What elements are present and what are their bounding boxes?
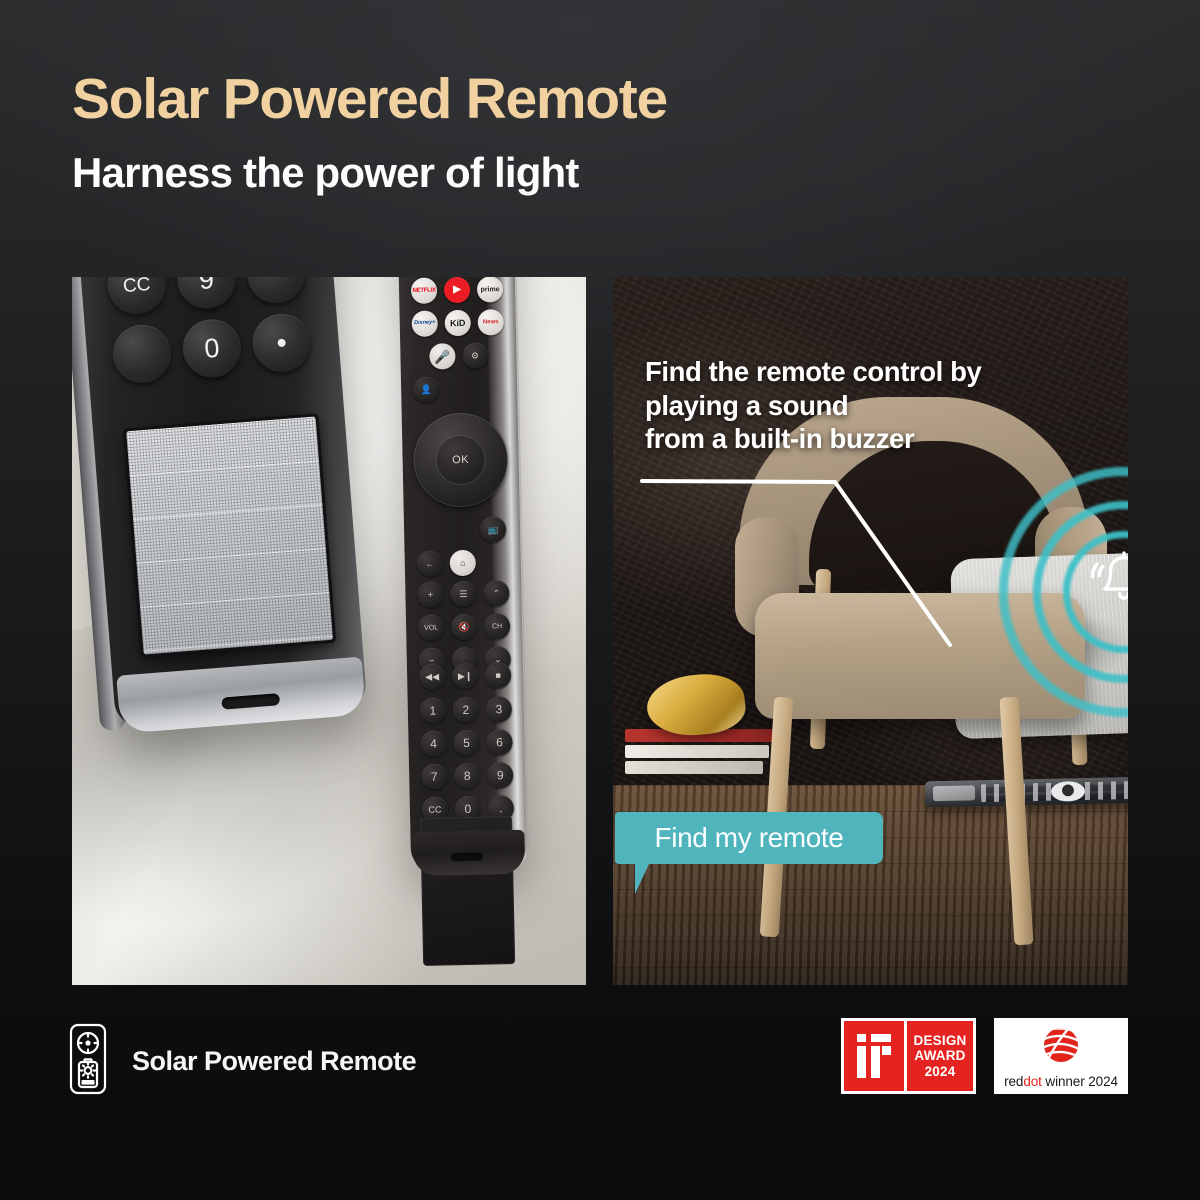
scene-photo-panel: Find the remote control by playing a sou… [613, 277, 1128, 985]
rewind-button-icon: ◀◀ [419, 663, 446, 690]
playback-row: ◀◀ ▶❙ ■ [417, 662, 514, 697]
key-blank-a [245, 277, 307, 305]
if-logo-icon [855, 1034, 893, 1078]
solar-remote-icon [68, 1022, 108, 1101]
back-button-icon: ← [417, 550, 444, 577]
find-my-remote-bubble[interactable]: Find my remote [615, 812, 883, 864]
slim-key-4: 4 [420, 730, 447, 757]
volume-label: VOL [418, 614, 445, 641]
reddot-caption: reddot winner 2024 [1004, 1074, 1118, 1089]
settings-gear-icon: ⚙ [462, 342, 489, 369]
mute-button-icon: 🔇 [451, 614, 478, 641]
slim-key-1: 1 [420, 697, 447, 724]
prime-video-app-button: prime [477, 277, 504, 303]
navigation-row: 📺 ← ⌂ [414, 516, 511, 584]
slim-usb-c-port-icon [451, 853, 483, 862]
slim-key-3: 3 [486, 696, 513, 723]
slim-remote-device: NETFLIX ▶ prime Disney+ KiD News 🎤 ⚙ 👤 O… [397, 277, 527, 872]
app-shortcut-row-1: NETFLIX ▶ prime Disney+ KiD News 🎤 ⚙ 👤 [409, 277, 508, 410]
if-award-line-2: AWARD [914, 1048, 965, 1063]
if-award-line-3: 2024 [925, 1064, 956, 1079]
sound-wave-rings [999, 467, 1128, 717]
slim-key-9: 9 [487, 762, 514, 789]
reddot-winner-badge: reddot winner 2024 [994, 1018, 1128, 1094]
solar-cell-surface [126, 416, 333, 654]
youtube-app-button: ▶ [444, 277, 471, 303]
key-blank-b [111, 323, 173, 385]
usb-c-port-icon [222, 693, 281, 710]
header-block: Solar Powered Remote Harness the power o… [72, 70, 1132, 196]
profile-icon: 👤 [413, 376, 440, 403]
channel-label: CH [484, 613, 511, 640]
slim-key-8: 8 [454, 763, 481, 790]
key-dot [250, 312, 312, 374]
key-0: 0 [181, 317, 243, 379]
dot-glyph [277, 339, 286, 348]
armchair [721, 397, 1111, 957]
key-cc: CC [105, 277, 167, 316]
large-remote-device: 7 8 6 CC 9 0 [72, 277, 367, 728]
if-award-line-1: DESIGN [914, 1033, 967, 1048]
play-pause-button-icon: ▶❙ [452, 663, 479, 690]
slim-key-7: 7 [421, 763, 448, 790]
page-title: Solar Powered Remote [72, 70, 1132, 130]
ok-button: OK [435, 434, 486, 485]
slim-remote-keypad: 1 2 3 4 5 6 7 8 9 CC 0 . [418, 696, 517, 830]
scene-caption: Find the remote control by playing a sou… [645, 355, 1085, 456]
page-subtitle: Harness the power of light [72, 150, 1132, 196]
scene-caption-line-3: from a built-in buzzer [645, 422, 1085, 456]
reddot-brand-red: red [1004, 1074, 1023, 1089]
microphone-icon: 🎤 [429, 343, 456, 370]
news-app-button: News [477, 309, 504, 336]
volume-up-button: + [417, 581, 444, 608]
stop-button-icon: ■ [485, 662, 512, 689]
slim-key-5: 5 [453, 730, 480, 757]
bubble-tail [635, 864, 649, 894]
if-award-text: DESIGN AWARD 2024 [907, 1021, 973, 1091]
kid-app-button: KiD [444, 310, 471, 337]
slim-key-2: 2 [453, 697, 480, 724]
large-remote-keypad: 7 8 6 CC 9 0 [100, 277, 314, 396]
channel-up-button: ⌃ [483, 580, 510, 607]
disney-plus-app-button: Disney+ [411, 310, 438, 337]
slim-remote-bottom-cap [412, 830, 525, 876]
ringing-bell-icon [1077, 533, 1128, 627]
key-9: 9 [175, 277, 237, 311]
scene-caption-line-2: playing a sound [645, 389, 1085, 423]
netflix-app-button: NETFLIX [411, 277, 438, 304]
awards-row: DESIGN AWARD 2024 reddot winner 2024 [841, 1018, 1128, 1094]
if-logo-mark [844, 1021, 904, 1091]
live-tv-icon: 📺 [480, 516, 507, 543]
slim-key-6: 6 [486, 729, 513, 756]
guide-button-icon: ☰ [450, 581, 477, 608]
home-button-icon: ⌂ [450, 550, 477, 577]
feature-footer: Solar Powered Remote [68, 1022, 416, 1101]
solar-panel-large [123, 413, 336, 658]
feature-label: Solar Powered Remote [132, 1046, 416, 1077]
reddot-caption-rest: winner 2024 [1042, 1074, 1118, 1089]
reddot-brand-dot: dot [1023, 1074, 1041, 1089]
reddot-sphere-icon [1040, 1024, 1082, 1066]
find-my-remote-bubble-label: Find my remote [655, 822, 844, 854]
scene-caption-line-1: Find the remote control by [645, 355, 1085, 389]
product-photo-panel: 7 8 6 CC 9 0 NETFL [72, 277, 586, 985]
remote-on-chair [925, 777, 1128, 808]
if-design-award-badge: DESIGN AWARD 2024 [841, 1018, 976, 1094]
